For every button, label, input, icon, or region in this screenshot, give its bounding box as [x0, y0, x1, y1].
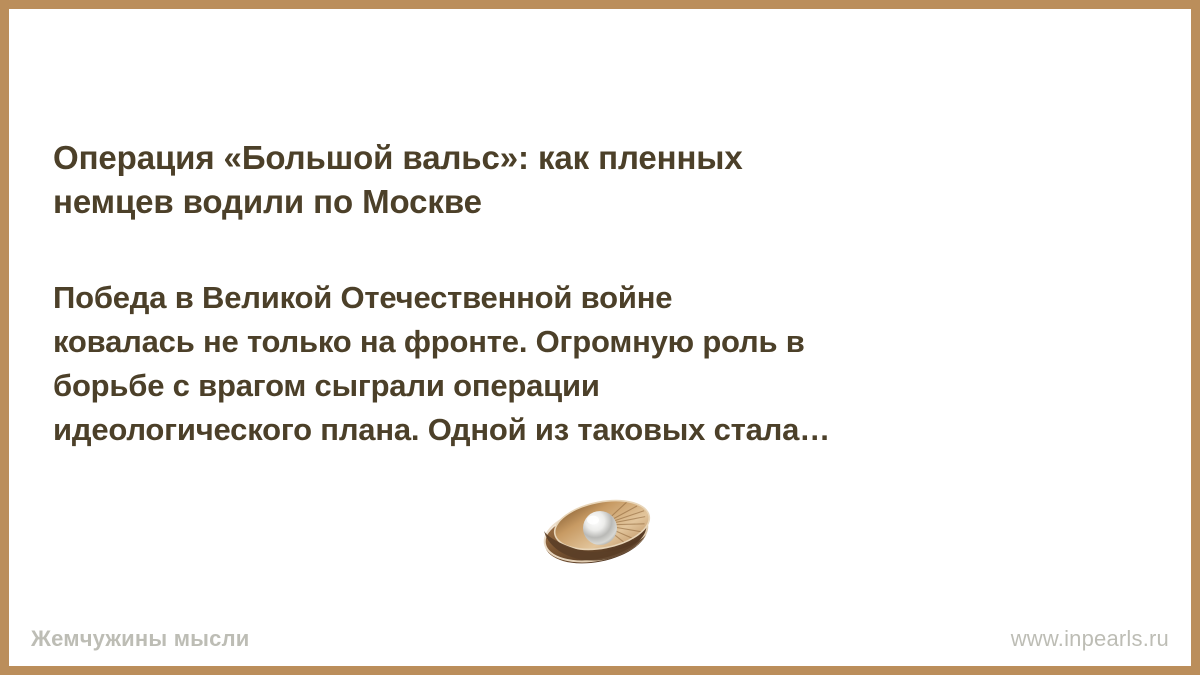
footer-site-url[interactable]: www.inpearls.ru: [1011, 626, 1169, 652]
quote-body: Победа в Великой Отечественной войне ков…: [53, 276, 1163, 452]
footer: Жемчужины мысли www.inpearls.ru: [9, 626, 1191, 652]
logo-container: [9, 491, 1191, 565]
quote-title: Операция «Большой вальс»: как пленных не…: [53, 136, 1153, 224]
card-content: Операция «Большой вальс»: как пленных не…: [9, 9, 1191, 666]
oyster-shell-pearl-icon: [536, 491, 664, 565]
quote-card: Операция «Большой вальс»: как пленных не…: [0, 0, 1200, 675]
footer-brand: Жемчужины мысли: [31, 626, 250, 652]
